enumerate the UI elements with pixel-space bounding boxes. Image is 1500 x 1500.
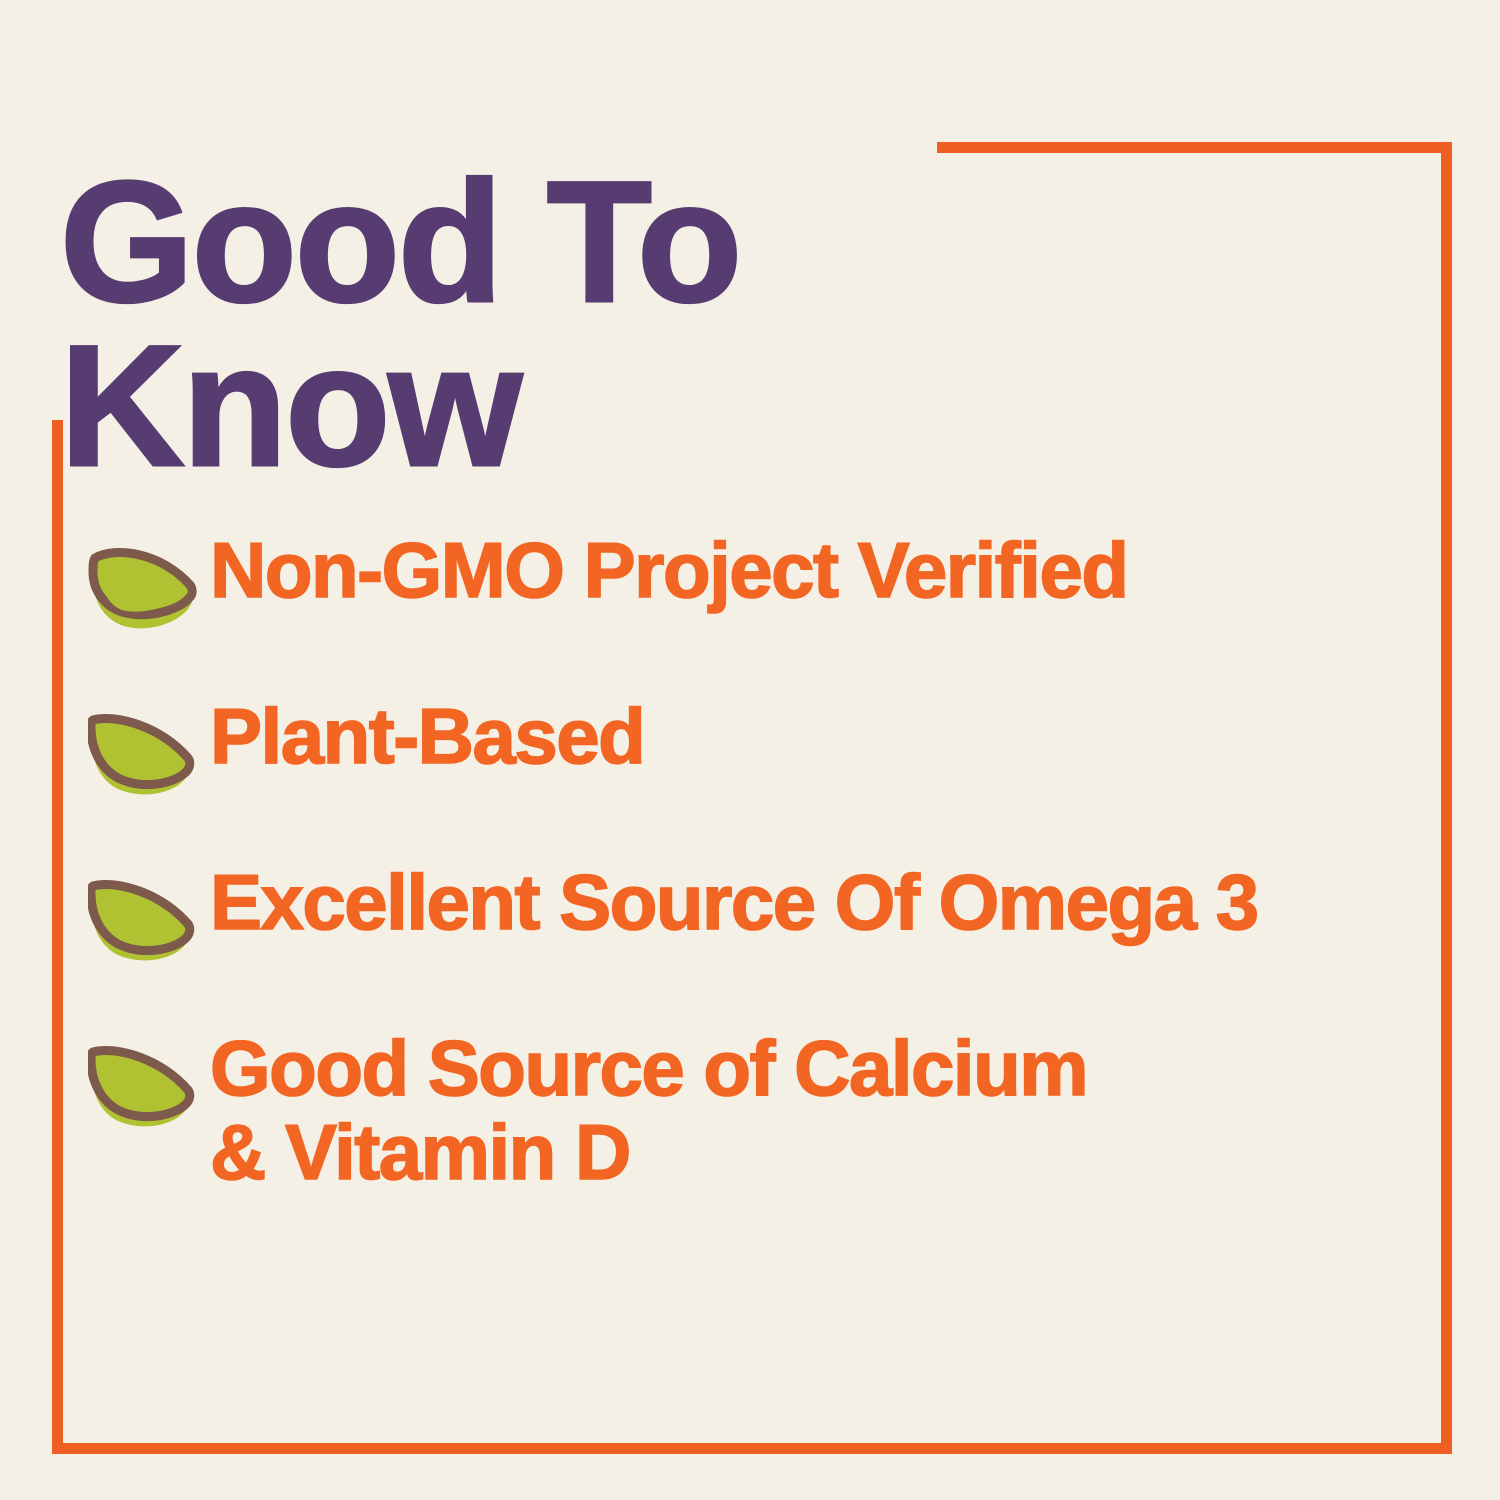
benefit-list: Non-GMO Project Verified Plant-Based xyxy=(88,528,1428,1194)
leaf-icon xyxy=(88,708,200,808)
benefit-label-line-2: & Vitamin D xyxy=(210,1110,1087,1194)
benefit-label: Excellent Source Of Omega 3 xyxy=(210,860,1258,944)
leaf-icon xyxy=(88,542,200,642)
frame-left-rule xyxy=(52,420,63,1454)
frame-right-rule xyxy=(1441,142,1452,1454)
page-title-line-1: Good To xyxy=(60,161,960,324)
benefit-label-line-1: Non-GMO Project Verified xyxy=(210,528,1127,612)
benefit-label: Non-GMO Project Verified xyxy=(210,528,1127,612)
benefit-label-line-1: Plant-Based xyxy=(210,694,644,778)
leaf-icon xyxy=(88,1040,200,1140)
frame-bottom-rule xyxy=(52,1443,1452,1454)
frame-top-rule xyxy=(937,142,1452,153)
list-item: Good Source of Calcium & Vitamin D xyxy=(88,1026,1428,1194)
page-title-line-2: Know xyxy=(60,325,960,488)
good-to-know-panel: Good To Know Non-GMO Project Verified xyxy=(0,0,1500,1500)
list-item: Excellent Source Of Omega 3 xyxy=(88,860,1428,974)
leaf-icon xyxy=(88,874,200,974)
benefit-label: Plant-Based xyxy=(210,694,644,778)
benefit-label-line-1: Good Source of Calcium xyxy=(210,1026,1087,1110)
benefit-label: Good Source of Calcium & Vitamin D xyxy=(210,1026,1087,1194)
page-title: Good To Know xyxy=(60,161,960,488)
benefit-label-line-1: Excellent Source Of Omega 3 xyxy=(210,860,1258,944)
list-item: Plant-Based xyxy=(88,694,1428,808)
list-item: Non-GMO Project Verified xyxy=(88,528,1428,642)
